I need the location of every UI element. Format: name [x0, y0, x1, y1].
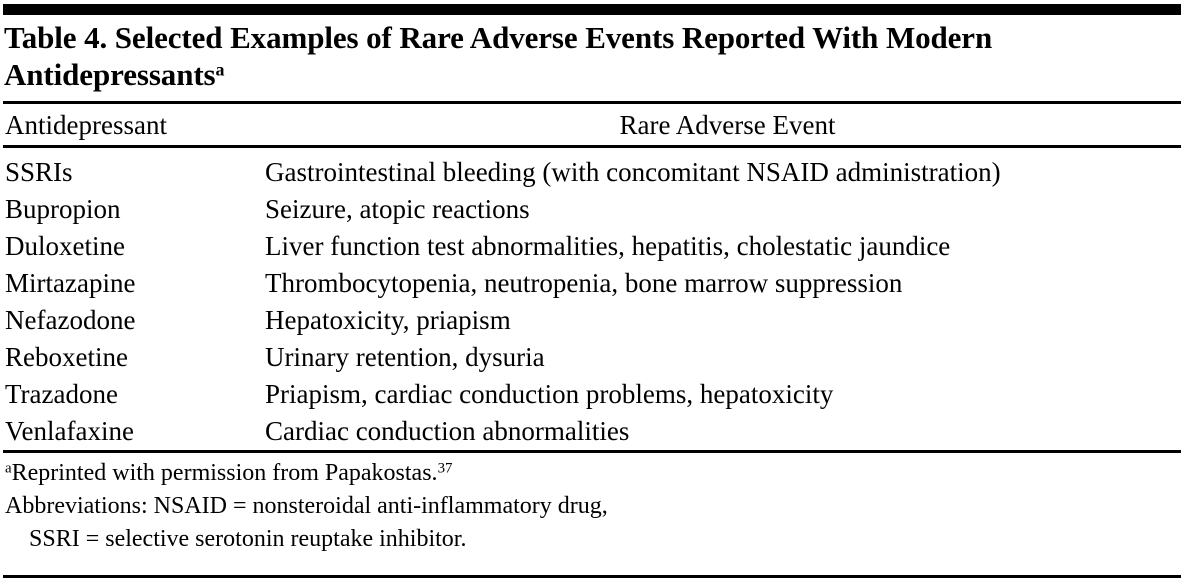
cell-rare-adverse-event: Thrombocytopenia, neutropenia, bone marr…: [265, 266, 902, 300]
footnote-source: aReprinted with permission from Papakost…: [5, 457, 1181, 490]
table-row: Mirtazapine Thrombocytopenia, neutropeni…: [0, 266, 1186, 303]
table-row: Trazadone Priapism, cardiac conduction p…: [0, 377, 1186, 414]
footnote-reference-number: 37: [438, 461, 453, 477]
title-divider-rule: [3, 101, 1181, 104]
cell-antidepressant: Mirtazapine: [5, 266, 135, 300]
table-row: Venlafaxine Cardiac conduction abnormali…: [0, 414, 1186, 451]
table-title-footnote-marker: a: [216, 60, 225, 80]
table-row: Duloxetine Liver function test abnormali…: [0, 229, 1186, 266]
table-title: Table 4. Selected Examples of Rare Adver…: [4, 19, 1176, 93]
table-title-text: Table 4. Selected Examples of Rare Adver…: [4, 20, 992, 92]
table-bottom-rule: [3, 575, 1181, 578]
table-row: SSRIs Gastrointestinal bleeding (with co…: [0, 155, 1186, 192]
body-divider-rule: [3, 450, 1181, 453]
cell-rare-adverse-event: Seizure, atopic reactions: [265, 192, 530, 226]
cell-antidepressant: SSRIs: [5, 155, 73, 189]
table-body: SSRIs Gastrointestinal bleeding (with co…: [0, 155, 1186, 451]
cell-antidepressant: Bupropion: [5, 192, 121, 226]
footnote-source-text: Reprinted with permission from Papakosta…: [12, 460, 438, 486]
column-header-rare-adverse-event: Rare Adverse Event: [500, 108, 955, 142]
table-footnotes: aReprinted with permission from Papakost…: [5, 457, 1181, 556]
cell-antidepressant: Trazadone: [5, 377, 118, 411]
cell-rare-adverse-event: Liver function test abnormalities, hepat…: [265, 229, 950, 263]
table-row: Nefazodone Hepatoxicity, priapism: [0, 303, 1186, 340]
table-top-rule: [3, 4, 1181, 15]
cell-antidepressant: Venlafaxine: [5, 414, 134, 448]
table-row: Reboxetine Urinary retention, dysuria: [0, 340, 1186, 377]
cell-antidepressant: Nefazodone: [5, 303, 135, 337]
column-header-antidepressant: Antidepressant: [5, 108, 167, 142]
header-divider-rule: [3, 145, 1181, 148]
cell-rare-adverse-event: Cardiac conduction abnormalities: [265, 414, 629, 448]
footnote-abbreviations-line-1: Abbreviations: NSAID = nonsteroidal anti…: [5, 490, 1181, 523]
table-figure: Table 4. Selected Examples of Rare Adver…: [0, 0, 1186, 587]
cell-rare-adverse-event: Gastrointestinal bleeding (with concomit…: [265, 155, 1001, 189]
table-column-header-row: Antidepressant Rare Adverse Event: [0, 108, 1186, 144]
footnote-abbreviations-line-2: SSRI = selective serotonin reuptake inhi…: [5, 523, 1181, 556]
cell-antidepressant: Duloxetine: [5, 229, 125, 263]
cell-rare-adverse-event: Hepatoxicity, priapism: [265, 303, 511, 337]
cell-rare-adverse-event: Priapism, cardiac conduction problems, h…: [265, 377, 833, 411]
cell-rare-adverse-event: Urinary retention, dysuria: [265, 340, 545, 374]
table-row: Bupropion Seizure, atopic reactions: [0, 192, 1186, 229]
footnote-marker: a: [5, 461, 12, 477]
cell-antidepressant: Reboxetine: [5, 340, 128, 374]
